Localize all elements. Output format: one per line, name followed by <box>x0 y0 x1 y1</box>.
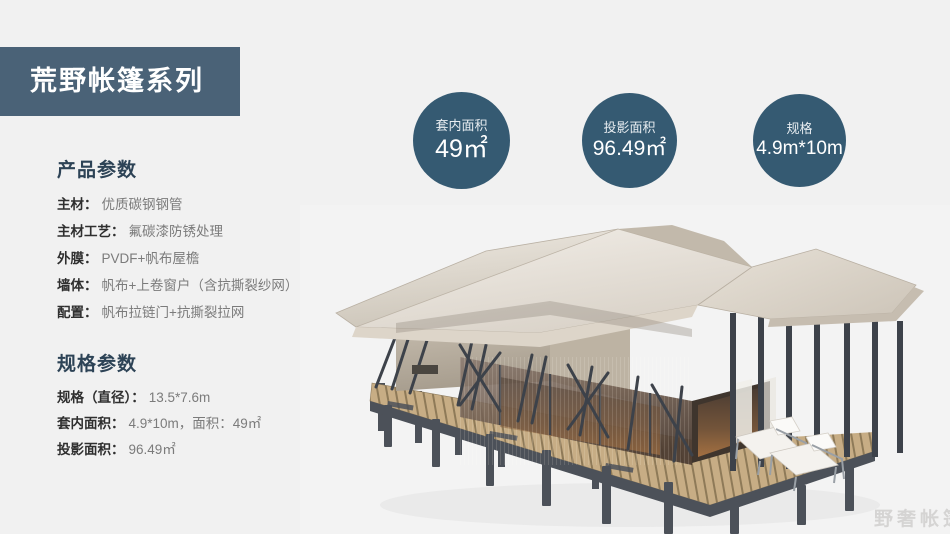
param-row-configuration: 配置： 帆布拉链门+抗撕裂拉网 <box>0 299 320 326</box>
tent-render-svg <box>300 205 950 534</box>
badge-value: 49㎡ <box>435 136 488 162</box>
param-value: 优质碳钢钢管 <box>102 191 183 218</box>
param-row-indoor-area: 套内面积： 4.9*10m，面积：49㎡ <box>0 411 320 437</box>
param-label: 配置： <box>57 299 98 326</box>
size-parameters-section: 规格参数 规格（直径）： 13.5*7.6m 套内面积： 4.9*10m，面积：… <box>0 354 320 463</box>
param-value: 96.49㎡ <box>129 437 176 463</box>
wall-vent-icon <box>412 365 438 374</box>
page-title: 荒野帐篷系列 <box>0 68 204 95</box>
param-row-dimensions: 规格（直径）： 13.5*7.6m <box>0 385 320 411</box>
param-label: 墙体： <box>57 272 98 299</box>
param-row-main-material: 主材： 优质碳钢钢管 <box>0 191 320 218</box>
slide-page: 荒野帐篷系列 产品参数 主材： 优质碳钢钢管 主材工艺： 氟碳漆防锈处理 外膜：… <box>0 0 950 534</box>
badge-label: 投影面积 <box>603 121 655 135</box>
param-label: 主材工艺： <box>57 218 125 245</box>
param-value: 氟碳漆防锈处理 <box>129 218 224 245</box>
badge-dimensions: 规格 4.9m*10m <box>753 94 846 187</box>
specification-panel: 产品参数 主材： 优质碳钢钢管 主材工艺： 氟碳漆防锈处理 外膜： PVDF+帆… <box>0 160 320 463</box>
param-row-main-material-process: 主材工艺： 氟碳漆防锈处理 <box>0 218 320 245</box>
param-label: 主材： <box>57 191 98 218</box>
param-value: 13.5*7.6m <box>149 385 211 411</box>
badge-label: 套内面积 <box>435 119 487 133</box>
param-row-wall: 墙体： 帆布+上卷窗户（含抗撕裂纱网） <box>0 272 320 299</box>
param-value: PVDF+帆布屋檐 <box>102 245 200 272</box>
tent-render-image: 野奢帐篷 LUXURY TENT <box>300 205 950 534</box>
badge-value: 4.9m*10m <box>756 139 843 159</box>
product-parameters-heading: 产品参数 <box>0 160 320 183</box>
param-row-projected-area: 投影面积： 96.49㎡ <box>0 437 320 463</box>
param-label: 规格（直径）： <box>57 385 145 411</box>
glass-facade <box>460 357 692 465</box>
param-row-outer-membrane: 外膜： PVDF+帆布屋檐 <box>0 245 320 272</box>
product-parameters-list: 主材： 优质碳钢钢管 主材工艺： 氟碳漆防锈处理 外膜： PVDF+帆布屋檐 墙… <box>0 191 320 326</box>
param-label: 外膜： <box>57 245 98 272</box>
badge-label: 规格 <box>786 122 812 136</box>
size-parameters-list: 规格（直径）： 13.5*7.6m 套内面积： 4.9*10m，面积：49㎡ 投… <box>0 385 320 463</box>
param-value: 帆布+上卷窗户（含抗撕裂纱网） <box>102 272 299 299</box>
size-parameters-heading: 规格参数 <box>0 354 320 377</box>
param-value: 4.9*10m，面积：49㎡ <box>129 411 262 437</box>
param-label: 投影面积： <box>57 437 125 463</box>
badge-value: 96.49㎡ <box>593 138 667 160</box>
badge-indoor-area: 套内面积 49㎡ <box>413 92 510 189</box>
product-parameters-section: 产品参数 主材： 优质碳钢钢管 主材工艺： 氟碳漆防锈处理 外膜： PVDF+帆… <box>0 160 320 326</box>
badge-projected-area: 投影面积 96.49㎡ <box>582 93 677 188</box>
title-banner: 荒野帐篷系列 <box>0 47 240 116</box>
param-value: 帆布拉链门+抗撕裂拉网 <box>102 299 245 326</box>
param-label: 套内面积： <box>57 411 125 437</box>
